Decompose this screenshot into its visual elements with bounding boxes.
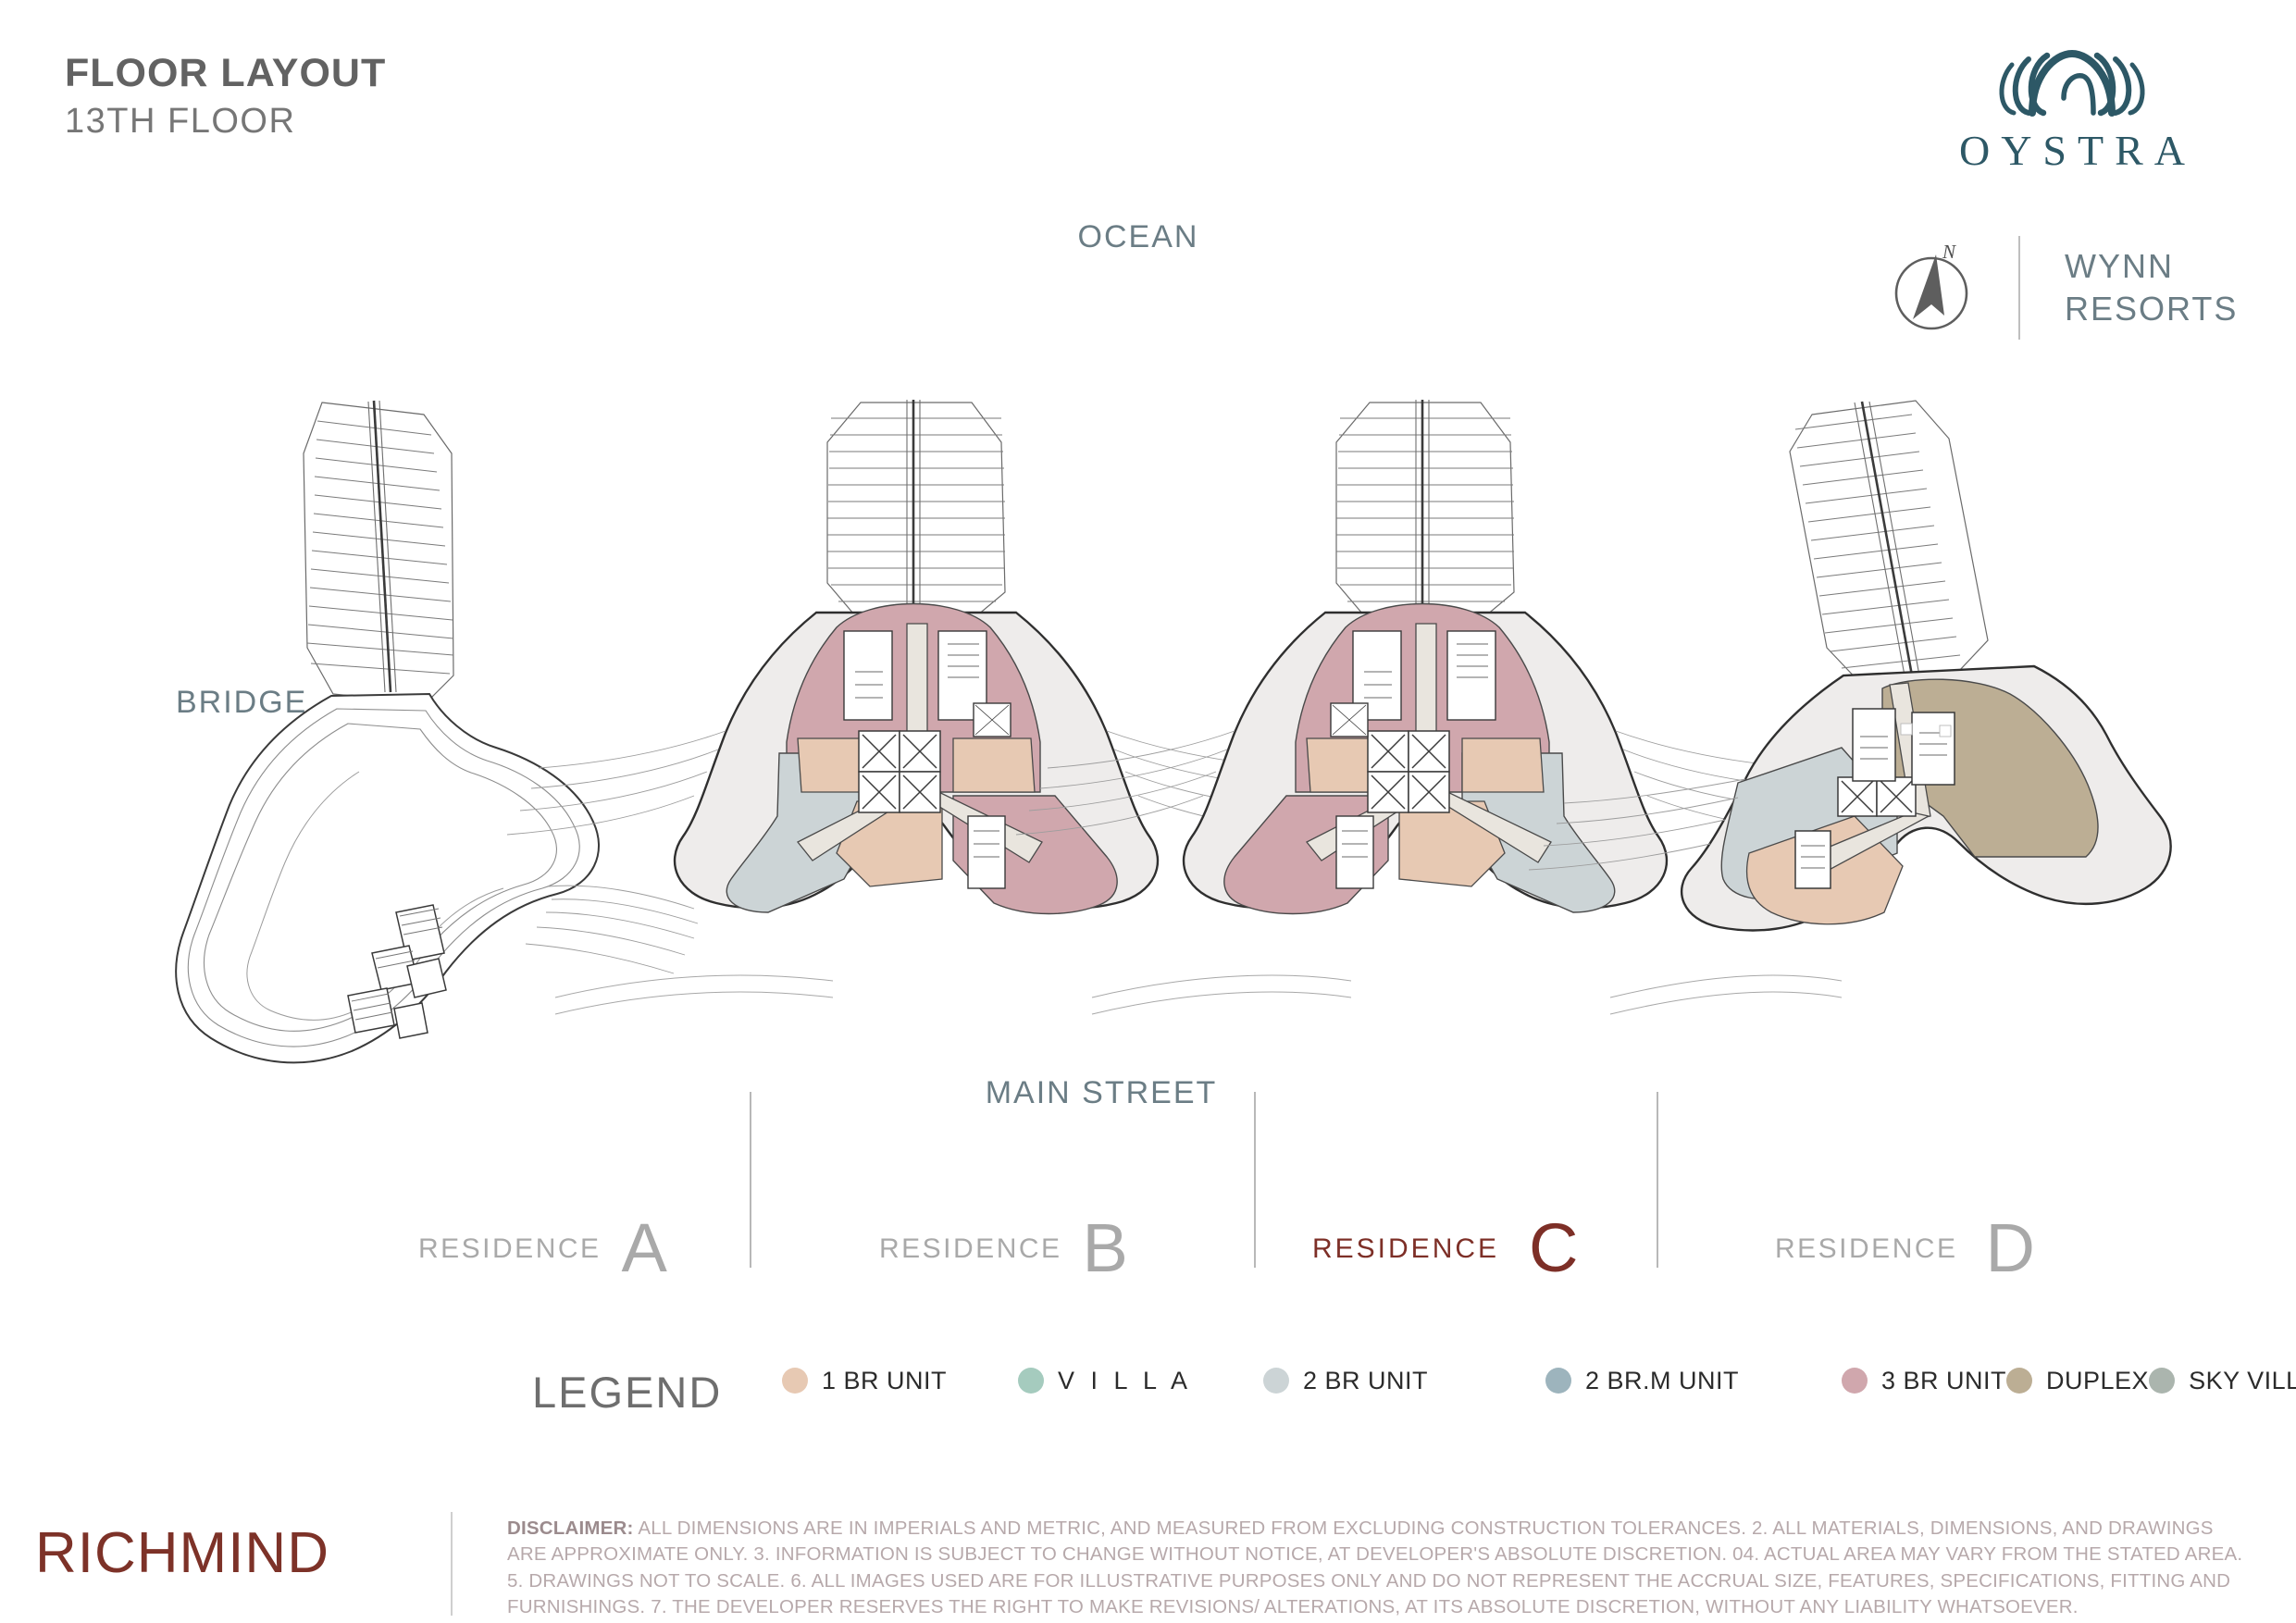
legend-item-2brm[interactable]: 2 BR.M UNIT <box>1545 1367 1842 1395</box>
residence-label-d[interactable]: RESIDENCE D <box>1775 1220 2035 1277</box>
residence-label-b[interactable]: RESIDENCE B <box>879 1220 1128 1277</box>
legend-swatch-2brm <box>1545 1368 1571 1394</box>
residence-a-plan <box>176 401 698 1062</box>
residence-divider-ab <box>750 1092 751 1268</box>
residence-b-letter: B <box>1083 1220 1128 1277</box>
legend-item-sky-villas[interactable]: SKY VILLAS <box>2149 1367 2296 1395</box>
legend-label-3br: 3 BR UNIT <box>1881 1367 2006 1395</box>
legend-swatch-2br <box>1263 1368 1289 1394</box>
residence-c-letter: C <box>1529 1220 1578 1277</box>
residence-d-letter: D <box>1986 1220 2035 1277</box>
partner-block: N WYNN RESORTS <box>1880 236 2277 340</box>
legend-label-duplex: DUPLEX <box>2046 1367 2149 1395</box>
partner-name-line1: WYNN <box>2065 245 2277 288</box>
legend-label-2br: 2 BR UNIT <box>1303 1367 1428 1395</box>
residence-c-word: RESIDENCE <box>1312 1233 1499 1277</box>
partner-name: WYNN RESORTS <box>2065 245 2277 330</box>
oystra-logo: OYSTRA <box>1915 44 2229 175</box>
residence-label-row: RESIDENCE A RESIDENCE B RESIDENCE C RESI… <box>0 1175 2296 1277</box>
page-title-block: FLOOR LAYOUT 13TH FLOOR <box>65 51 386 144</box>
richmind-logo: RICHMIND <box>35 1520 329 1586</box>
legend-item-villa[interactable]: V I L L A <box>1018 1367 1263 1395</box>
residence-d-word: RESIDENCE <box>1775 1233 1958 1277</box>
disclaimer-line-3: 5. DRAWINGS NOT TO SCALE. 6. ALL IMAGES … <box>507 1568 2270 1594</box>
legend: LEGEND 1 BR UNIT V I L L A 2 BR UNIT 2 B… <box>0 1346 2296 1471</box>
residence-label-c[interactable]: RESIDENCE C <box>1312 1220 1579 1277</box>
unit-1br-b <box>953 738 1035 792</box>
legend-item-duplex[interactable]: DUPLEX <box>2006 1367 2149 1395</box>
legend-title: LEGEND <box>532 1367 722 1418</box>
legend-item-2br[interactable]: 2 BR UNIT <box>1263 1367 1545 1395</box>
partner-name-line2: RESORTS <box>2065 288 2277 330</box>
legend-swatch-3br <box>1842 1368 1868 1394</box>
legend-item-1br[interactable]: 1 BR UNIT <box>782 1367 1018 1395</box>
arches-wave-icon <box>1975 44 2169 118</box>
page-title: FLOOR LAYOUT <box>65 51 386 96</box>
residence-b-word: RESIDENCE <box>879 1233 1062 1277</box>
partner-divider <box>2018 236 2020 340</box>
residence-divider-bc <box>1254 1092 1256 1268</box>
core-blocks <box>859 731 940 812</box>
disclaimer: DISCLAIMER: ALL DIMENSIONS ARE IN IMPERI… <box>507 1516 2270 1620</box>
residence-label-a[interactable]: RESIDENCE A <box>418 1220 667 1277</box>
legend-swatch-1br <box>782 1368 808 1394</box>
compass-north-label: N <box>1942 241 1956 263</box>
residence-a-letter: A <box>622 1220 667 1277</box>
disclaimer-line-2: ARE APPROXIMATE ONLY. 3. INFORMATION IS … <box>507 1542 2270 1567</box>
legend-label-sky-villas: SKY VILLAS <box>2189 1367 2296 1395</box>
footer-divider <box>451 1512 453 1616</box>
core-blocks <box>1368 731 1449 812</box>
legend-swatch-duplex <box>2006 1368 2032 1394</box>
floor-plan-drawing <box>0 398 2296 1212</box>
legend-item-3br[interactable]: 3 BR UNIT <box>1842 1367 2006 1395</box>
oystra-wordmark: OYSTRA <box>1915 126 2229 175</box>
legend-swatch-sky-villas <box>2149 1368 2175 1394</box>
disclaimer-line-4: FURNISHINGS. 7. THE DEVELOPER RESERVES T… <box>507 1594 2270 1620</box>
legend-label-2brm: 2 BR.M UNIT <box>1585 1367 1739 1395</box>
legend-label-villa: V I L L A <box>1058 1367 1192 1395</box>
residence-a-word: RESIDENCE <box>418 1233 602 1277</box>
legend-grid: 1 BR UNIT V I L L A 2 BR UNIT 2 BR.M UNI… <box>782 1356 2296 1406</box>
legend-label-1br: 1 BR UNIT <box>822 1367 947 1395</box>
disclaimer-lead: DISCLAIMER: <box>507 1518 634 1539</box>
disclaimer-line-1: DISCLAIMER: ALL DIMENSIONS ARE IN IMPERI… <box>507 1516 2270 1542</box>
residence-divider-cd <box>1657 1092 1658 1268</box>
page-subtitle: 13TH FLOOR <box>65 100 386 144</box>
disclaimer-text-1: ALL DIMENSIONS ARE IN IMPERIALS AND METR… <box>634 1518 2214 1539</box>
map-label-ocean: OCEAN <box>1078 219 1199 255</box>
compass-north-icon: N <box>1880 238 1991 338</box>
unit-1br-b <box>1462 738 1544 792</box>
legend-swatch-villa <box>1018 1368 1044 1394</box>
